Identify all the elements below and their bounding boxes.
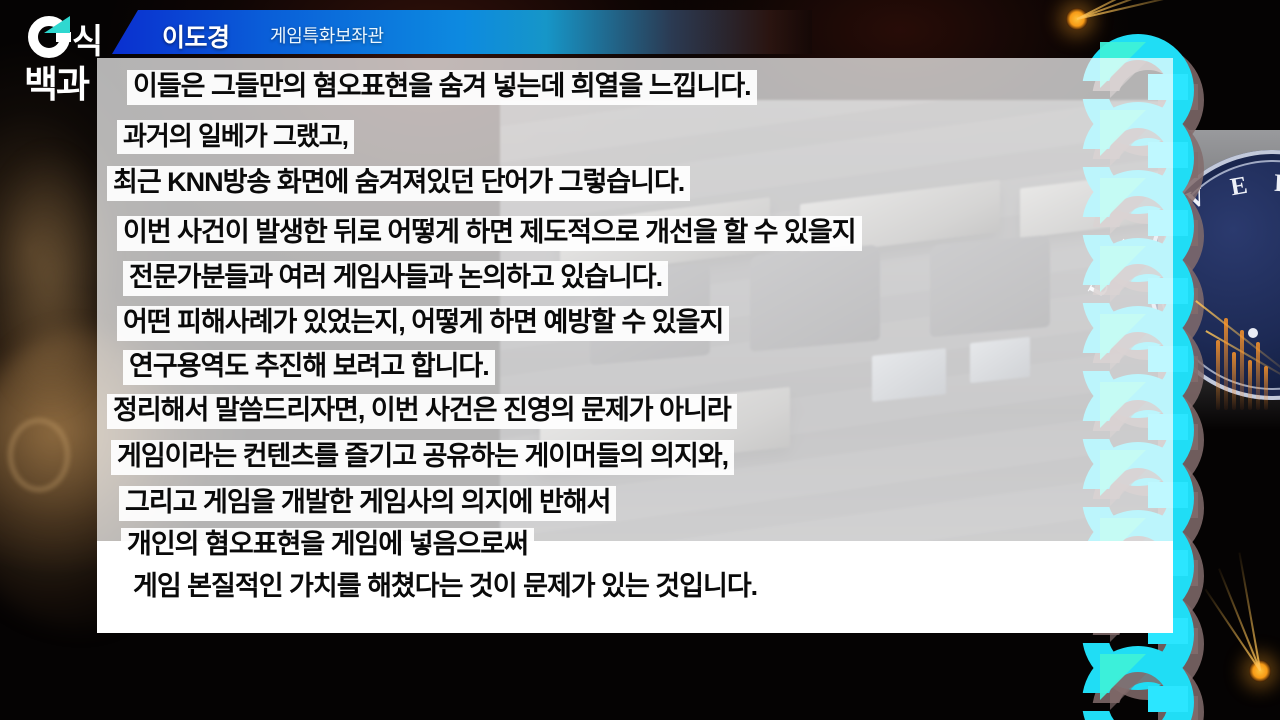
speaker-name: 이도경: [162, 18, 230, 54]
caption-line: 연구용역도 추진해 보려고 합니다.: [123, 350, 495, 385]
program-logo-line2: 백과: [24, 54, 88, 108]
broadcast-screen: UNIVERSITY 이들은 그들만의 혐오표현을 숨겨 넣는데 희열을 느낍니…: [0, 0, 1280, 720]
equalizer-bar: [1232, 352, 1236, 410]
caption-line: 정리해서 말씀드리자면, 이번 사건은 진영의 문제가 아니라: [107, 394, 737, 429]
seal-letter: R: [1274, 170, 1280, 199]
caption-line: 최근 KNN방송 화면에 숨겨져있던 단어가 그렇습니다.: [107, 166, 690, 201]
caption-line: 개인의 혐오표현을 게임에 넣음으로써: [121, 528, 534, 563]
equalizer-bar: [1240, 330, 1244, 410]
equalizer-bar: [1264, 366, 1268, 410]
caption-line: 어떤 피해사례가 있었는지, 어떻게 하면 예방할 수 있을지: [117, 306, 729, 341]
caption-line-list: 이들은 그들만의 혐오표현을 숨겨 넣는데 희열을 느낍니다.과거의 일베가 그…: [97, 58, 1187, 638]
caption-line: 게임 본질적인 가치를 해쳤다는 것이 문제가 있는 것입니다.: [127, 570, 763, 605]
caption-line: 게임이라는 컨텐츠를 즐기고 공유하는 게이머들의 의지와,: [111, 440, 734, 475]
speaker-role: 게임특화보좌관: [270, 22, 384, 48]
caption-line: 그리고 게임을 개발한 게임사의 의지에 반해서: [119, 486, 616, 521]
equalizer-bar: [1216, 340, 1220, 410]
background-ring-shape: [8, 418, 70, 492]
caption-line: 전문가분들과 여러 게임사들과 논의하고 있습니다.: [123, 261, 668, 296]
seal-letter: E: [1228, 172, 1249, 202]
light-particle: [1249, 660, 1271, 682]
caption-line: 이번 사건이 발생한 뒤로 어떻게 하면 제도적으로 개선을 할 수 있을지: [117, 216, 862, 251]
equalizer-bar: [1256, 342, 1260, 410]
seal-dot: [1248, 328, 1258, 338]
equalizer-bar: [1248, 360, 1252, 410]
program-logo: 식 백과: [24, 14, 116, 96]
equalizer-bar: [1224, 318, 1228, 410]
caption-line: 과거의 일베가 그랬고,: [117, 120, 354, 154]
caption-line: 이들은 그들만의 혐오표현을 숨겨 넣는데 희열을 느낍니다.: [127, 70, 757, 105]
g-letter-icon: [28, 16, 70, 58]
g-motif-icon: [1082, 646, 1194, 720]
speaker-name-banner: 이도경 게임특화보좌관: [112, 10, 812, 54]
